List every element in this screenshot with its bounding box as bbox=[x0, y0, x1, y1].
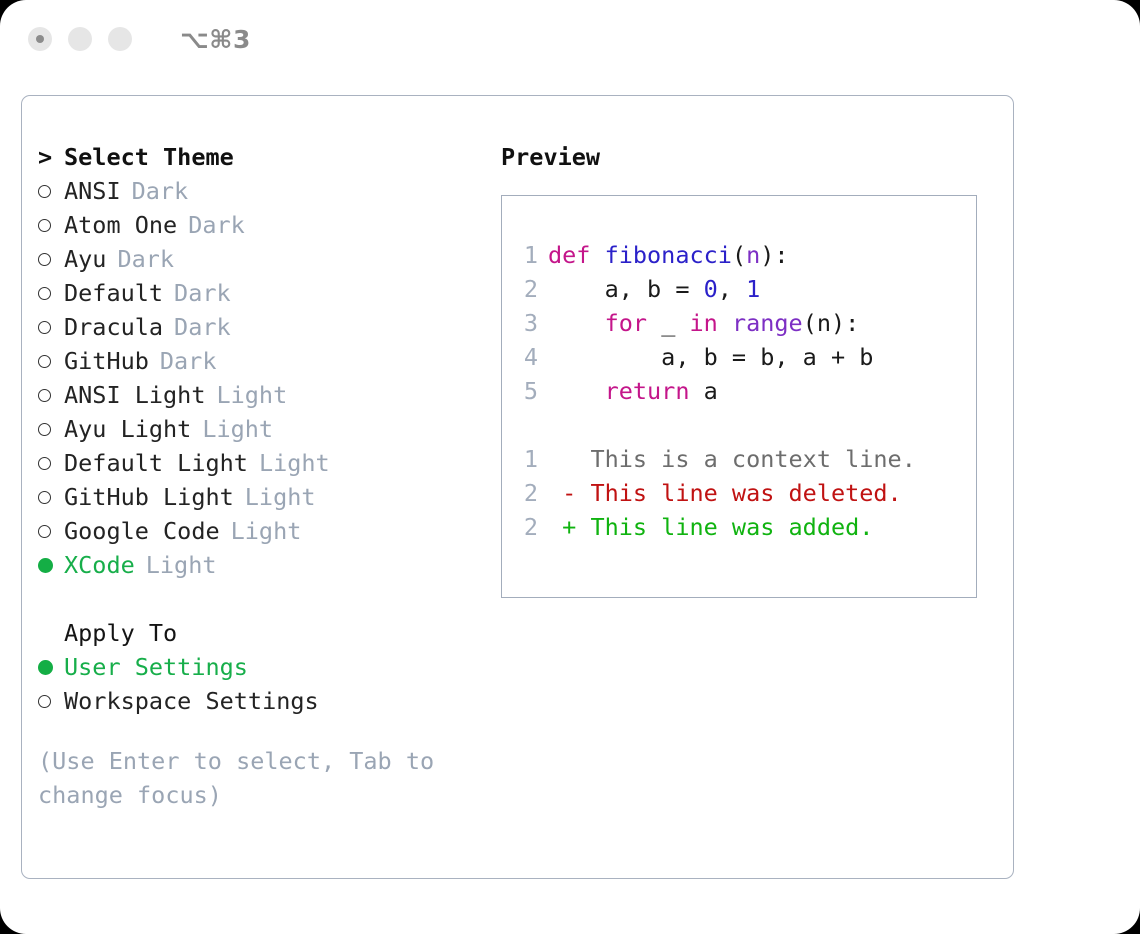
theme-name-label: Default Light bbox=[64, 446, 248, 480]
theme-list-item[interactable]: ANSI LightLight bbox=[38, 378, 498, 412]
code-token: return bbox=[605, 377, 690, 405]
preview-title: Preview bbox=[501, 140, 1001, 174]
diff-line-text: This is a context line. bbox=[548, 442, 916, 476]
line-number: 1 bbox=[502, 442, 548, 476]
diff-line: 1 This is a context line. bbox=[502, 442, 976, 476]
theme-kind-badge: Light bbox=[216, 378, 287, 412]
radio-unselected-icon[interactable] bbox=[38, 253, 64, 266]
theme-list-item[interactable]: Atom OneDark bbox=[38, 208, 498, 242]
theme-kind-badge: Dark bbox=[188, 208, 245, 242]
line-number: 3 bbox=[502, 306, 548, 340]
radio-unselected-icon[interactable] bbox=[38, 525, 64, 538]
apply-to-label: User Settings bbox=[64, 650, 248, 684]
code-token: def bbox=[548, 241, 605, 269]
radio-selected-icon[interactable] bbox=[38, 558, 64, 573]
radio-unselected-icon[interactable] bbox=[38, 423, 64, 436]
theme-name-label: Ayu Light bbox=[64, 412, 191, 446]
radio-mark bbox=[38, 253, 51, 266]
code-token: for bbox=[605, 309, 647, 337]
code-line-text: a, b = b, a + b bbox=[548, 340, 873, 374]
radio-mark bbox=[38, 660, 53, 675]
theme-kind-badge: Light bbox=[202, 412, 273, 446]
apply-to-option[interactable]: User Settings bbox=[38, 650, 498, 684]
theme-kind-badge: Light bbox=[231, 514, 302, 548]
code-token: , bbox=[718, 275, 746, 303]
code-sample: 1def fibonacci(n):2 a, b = 0, 13 for _ i… bbox=[502, 238, 976, 408]
theme-list-item[interactable]: DefaultDark bbox=[38, 276, 498, 310]
radio-mark bbox=[38, 491, 51, 504]
minimize-button-icon[interactable] bbox=[68, 27, 92, 51]
diff-sample: 1 This is a context line.2 - This line w… bbox=[502, 442, 976, 544]
code-line: 5 return a bbox=[502, 374, 976, 408]
code-token: n bbox=[746, 241, 760, 269]
preview-box: 1def fibonacci(n):2 a, b = 0, 13 for _ i… bbox=[501, 195, 977, 598]
theme-select-column: > Select Theme ANSIDarkAtom OneDarkAyuDa… bbox=[38, 140, 498, 812]
radio-unselected-icon[interactable] bbox=[38, 287, 64, 300]
code-line: 4 a, b = b, a + b bbox=[502, 340, 976, 374]
theme-list-item[interactable]: AyuDark bbox=[38, 242, 498, 276]
keyboard-shortcut-badge: ⌥⌘3 bbox=[180, 25, 251, 54]
theme-list-item[interactable]: DraculaDark bbox=[38, 310, 498, 344]
code-line: 1def fibonacci(n): bbox=[502, 238, 976, 272]
code-token bbox=[718, 309, 732, 337]
code-token: 1 bbox=[746, 275, 760, 303]
theme-kind-badge: Dark bbox=[132, 174, 189, 208]
apply-to-option[interactable]: Workspace Settings bbox=[38, 684, 498, 718]
theme-list: ANSIDarkAtom OneDarkAyuDarkDefaultDarkDr… bbox=[38, 174, 498, 582]
preview-column: Preview 1def fibonacci(n):2 a, b = 0, 13… bbox=[501, 140, 1001, 598]
theme-list-item[interactable]: Ayu LightLight bbox=[38, 412, 498, 446]
radio-mark bbox=[38, 525, 51, 538]
code-token: _ bbox=[647, 309, 689, 337]
close-button-icon[interactable] bbox=[28, 27, 52, 51]
radio-unselected-icon[interactable] bbox=[38, 491, 64, 504]
radio-mark bbox=[38, 355, 51, 368]
radio-unselected-icon[interactable] bbox=[38, 185, 64, 198]
line-number: 5 bbox=[502, 374, 548, 408]
theme-name-label: Dracula bbox=[64, 310, 163, 344]
theme-picker-panel: > Select Theme ANSIDarkAtom OneDarkAyuDa… bbox=[21, 95, 1014, 879]
select-theme-header: > Select Theme bbox=[38, 140, 498, 174]
radio-mark bbox=[38, 321, 51, 334]
code-token: a bbox=[689, 377, 717, 405]
theme-name-label: Ayu bbox=[64, 242, 106, 276]
theme-list-item[interactable]: ANSIDark bbox=[38, 174, 498, 208]
code-line-text: def fibonacci(n): bbox=[548, 238, 789, 272]
code-token bbox=[548, 309, 605, 337]
selection-caret-icon: > bbox=[38, 140, 64, 174]
code-line-text: a, b = 0, 1 bbox=[548, 272, 760, 306]
theme-kind-badge: Light bbox=[245, 480, 316, 514]
theme-name-label: Google Code bbox=[64, 514, 220, 548]
diff-line: 2 - This line was deleted. bbox=[502, 476, 976, 510]
code-token: a, b = bbox=[548, 275, 704, 303]
app-window: ⌥⌘3 > Select Theme ANSIDarkAtom OneDarkA… bbox=[0, 0, 1140, 934]
apply-to-header: Apply To bbox=[38, 616, 498, 650]
radio-unselected-icon[interactable] bbox=[38, 457, 64, 470]
theme-list-item[interactable]: GitHub LightLight bbox=[38, 480, 498, 514]
line-number: 4 bbox=[502, 340, 548, 374]
radio-mark bbox=[38, 423, 51, 436]
theme-name-label: GitHub bbox=[64, 344, 149, 378]
theme-kind-badge: Light bbox=[146, 548, 217, 582]
theme-name-label: Default bbox=[64, 276, 163, 310]
line-number: 1 bbox=[502, 238, 548, 272]
radio-mark bbox=[38, 695, 51, 708]
radio-unselected-icon[interactable] bbox=[38, 389, 64, 402]
theme-list-item[interactable]: GitHubDark bbox=[38, 344, 498, 378]
theme-list-item[interactable]: Default LightLight bbox=[38, 446, 498, 480]
theme-name-label: Atom One bbox=[64, 208, 177, 242]
code-token: ( bbox=[732, 241, 746, 269]
theme-kind-badge: Dark bbox=[174, 276, 231, 310]
theme-kind-badge: Dark bbox=[174, 310, 231, 344]
code-token: 0 bbox=[704, 275, 718, 303]
theme-name-label: ANSI Light bbox=[64, 378, 205, 412]
radio-mark bbox=[38, 287, 51, 300]
line-number: 2 bbox=[502, 272, 548, 306]
title-bar: ⌥⌘3 bbox=[0, 0, 1140, 78]
radio-unselected-icon[interactable] bbox=[38, 355, 64, 368]
radio-selected-icon[interactable] bbox=[38, 660, 64, 675]
code-token: (n): bbox=[803, 309, 860, 337]
diff-line-text: + This line was added. bbox=[548, 510, 873, 544]
radio-mark bbox=[38, 185, 51, 198]
theme-kind-badge: Light bbox=[259, 446, 330, 480]
code-line-text: return a bbox=[548, 374, 718, 408]
theme-name-label: XCode bbox=[64, 548, 135, 582]
line-number: 2 bbox=[502, 476, 548, 510]
code-token: fibonacci bbox=[605, 241, 732, 269]
apply-to-list: User SettingsWorkspace Settings bbox=[38, 650, 498, 718]
keyboard-hint-text: (Use Enter to select, Tab to change focu… bbox=[38, 744, 458, 812]
code-token: ): bbox=[760, 241, 788, 269]
radio-mark bbox=[38, 558, 53, 573]
radio-unselected-icon[interactable] bbox=[38, 219, 64, 232]
radio-unselected-icon[interactable] bbox=[38, 321, 64, 334]
diff-line-text: - This line was deleted. bbox=[548, 476, 902, 510]
radio-mark bbox=[38, 219, 51, 232]
code-token: a, b = b, a + b bbox=[548, 343, 873, 371]
theme-list-item[interactable]: Google CodeLight bbox=[38, 514, 498, 548]
apply-to-label: Workspace Settings bbox=[64, 684, 319, 718]
code-token: in bbox=[690, 309, 718, 337]
section-spacer bbox=[38, 582, 498, 616]
theme-kind-badge: Dark bbox=[117, 242, 174, 276]
theme-name-label: ANSI bbox=[64, 174, 121, 208]
radio-unselected-icon[interactable] bbox=[38, 695, 64, 708]
line-number: 2 bbox=[502, 510, 548, 544]
code-token: range bbox=[732, 309, 803, 337]
theme-kind-badge: Dark bbox=[160, 344, 217, 378]
diff-line: 2 + This line was added. bbox=[502, 510, 976, 544]
code-line: 2 a, b = 0, 1 bbox=[502, 272, 976, 306]
theme-list-item[interactable]: XCodeLight bbox=[38, 548, 498, 582]
select-theme-header-label: Select Theme bbox=[64, 140, 234, 174]
code-token bbox=[548, 377, 605, 405]
code-line: 3 for _ in range(n): bbox=[502, 306, 976, 340]
radio-mark bbox=[38, 389, 51, 402]
code-blank-line bbox=[502, 408, 976, 442]
zoom-button-icon[interactable] bbox=[108, 27, 132, 51]
code-line-text: for _ in range(n): bbox=[548, 306, 859, 340]
radio-mark bbox=[38, 457, 51, 470]
theme-name-label: GitHub Light bbox=[64, 480, 234, 514]
